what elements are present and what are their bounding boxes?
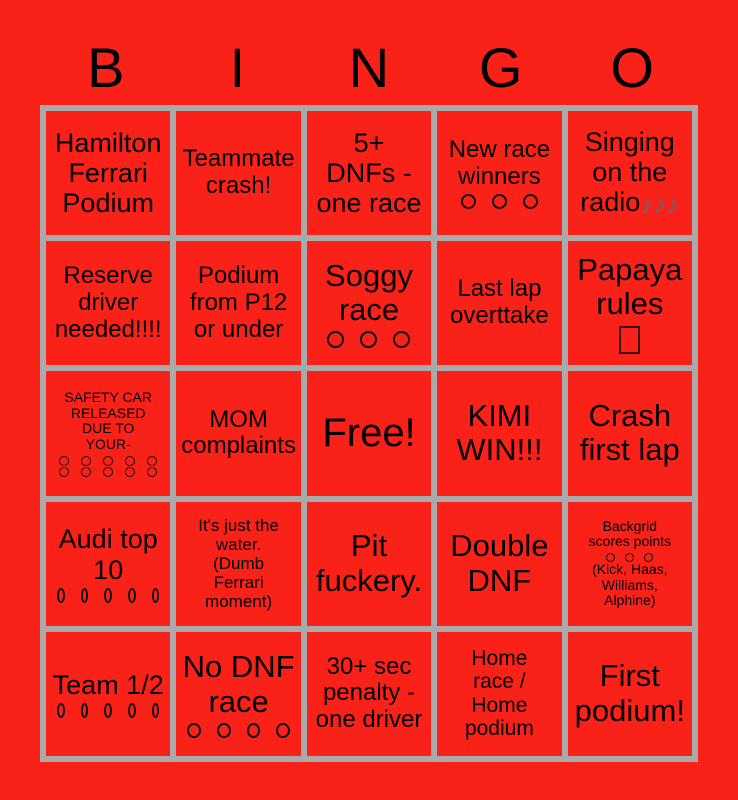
bingo-mark-circle[interactable] bbox=[147, 467, 157, 477]
bingo-cell-g4[interactable]: Double DNF bbox=[437, 502, 561, 626]
bingo-cell-label: Last lap overttake bbox=[440, 276, 558, 330]
bingo-mark-row bbox=[49, 588, 167, 603]
bingo-mark-circle[interactable] bbox=[276, 723, 290, 738]
bingo-cell-b3[interactable]: SAFETY CAR RELEASED DUE TO YOUR- bbox=[46, 371, 170, 495]
bingo-mark-circle[interactable] bbox=[128, 588, 136, 603]
bingo-cell-label: Singing on the radio ♪♪♪ bbox=[571, 127, 689, 220]
bingo-cell-label: SAFETY CAR RELEASED DUE TO YOUR- bbox=[49, 390, 167, 453]
header-letter-b: B bbox=[40, 40, 172, 96]
bingo-cell-label: Free! bbox=[310, 411, 428, 456]
bingo-mark-row bbox=[49, 456, 167, 466]
bingo-cell-n5[interactable]: 30+ sec penalty - one driver bbox=[307, 632, 431, 756]
bingo-cell-i5[interactable]: No DNF race bbox=[176, 632, 300, 756]
bingo-mark-circle[interactable] bbox=[125, 467, 135, 477]
bingo-mark-circle[interactable] bbox=[360, 331, 377, 348]
header-letter-n: N bbox=[303, 40, 435, 96]
bingo-cell-label: MOM complaints bbox=[179, 407, 297, 461]
bingo-cell-g3[interactable]: KIMI WIN!!! bbox=[437, 371, 561, 495]
bingo-cell-i3[interactable]: MOM complaints bbox=[176, 371, 300, 495]
bingo-cell-b4[interactable]: Audi top 10 bbox=[46, 502, 170, 626]
bingo-mark-circle[interactable] bbox=[327, 331, 344, 348]
bingo-mark-circle[interactable] bbox=[104, 703, 112, 718]
bingo-cell-label: Papaya rules bbox=[571, 253, 689, 322]
missing-glyph-tofu-icon bbox=[619, 326, 640, 354]
bingo-cell-label: Audi top 10 bbox=[49, 524, 167, 584]
bingo-mark-circle[interactable] bbox=[523, 194, 538, 209]
bingo-cell-label: Teammate crash! bbox=[179, 146, 297, 200]
bingo-mark-circle[interactable] bbox=[81, 703, 89, 718]
bingo-cell-n3[interactable]: Free! bbox=[307, 371, 431, 495]
bingo-header: B I N G O bbox=[40, 30, 698, 105]
bingo-cell-i1[interactable]: Teammate crash! bbox=[176, 111, 300, 235]
bingo-cell-i2[interactable]: Podium from P12 or under bbox=[176, 241, 300, 365]
bingo-grid: Hamilton Ferrari PodiumTeammate crash!5+… bbox=[40, 105, 698, 762]
bingo-mark-circle[interactable] bbox=[125, 456, 135, 466]
bingo-cell-n1[interactable]: 5+ DNFs - one race bbox=[307, 111, 431, 235]
bingo-cell-label: Crash first lap bbox=[571, 399, 689, 468]
bingo-cell-sublabel: (Kick, Haas, Williams, Alphine) bbox=[571, 562, 689, 609]
bingo-mark-circle[interactable] bbox=[103, 467, 113, 477]
bingo-mark-circle[interactable] bbox=[81, 467, 91, 477]
bingo-cell-b5[interactable]: Team 1/2 bbox=[46, 632, 170, 756]
header-letter-i: I bbox=[172, 40, 304, 96]
bingo-cell-label: Soggy race bbox=[310, 259, 428, 328]
bingo-mark-circle[interactable] bbox=[187, 723, 201, 738]
bingo-cell-label: 5+ DNFs - one race bbox=[310, 128, 428, 219]
bingo-mark-circle[interactable] bbox=[57, 588, 65, 603]
bingo-mark-row bbox=[179, 723, 297, 738]
bingo-mark-circle[interactable] bbox=[393, 331, 410, 348]
bingo-cell-label: Team 1/2 bbox=[49, 670, 167, 700]
bingo-cell-label: Home race / Home podium bbox=[440, 647, 558, 741]
bingo-cell-label: First podium! bbox=[571, 659, 689, 728]
bingo-mark-circle[interactable] bbox=[147, 456, 157, 466]
header-letter-o: O bbox=[566, 40, 698, 96]
bingo-mark-circle[interactable] bbox=[492, 194, 507, 209]
bingo-cell-b2[interactable]: Reserve driver needed!!!! bbox=[46, 241, 170, 365]
bingo-cell-i4[interactable]: It's just the water. (Dumb Ferrari momen… bbox=[176, 502, 300, 626]
music-notes-icon: ♪♪♪ bbox=[640, 190, 679, 219]
bingo-cell-label: KIMI WIN!!! bbox=[440, 399, 558, 468]
bingo-cell-g2[interactable]: Last lap overttake bbox=[437, 241, 561, 365]
bingo-mark-circle[interactable] bbox=[57, 703, 65, 718]
bingo-cell-label: New race winners bbox=[440, 137, 558, 191]
bingo-cell-label: No DNF race bbox=[179, 650, 297, 719]
bingo-mark-circle[interactable] bbox=[247, 723, 261, 738]
bingo-cell-o5[interactable]: First podium! bbox=[568, 632, 692, 756]
bingo-cell-o3[interactable]: Crash first lap bbox=[568, 371, 692, 495]
bingo-cell-label: 30+ sec penalty - one driver bbox=[310, 654, 428, 735]
bingo-mark-circle[interactable] bbox=[81, 588, 89, 603]
bingo-mark-circle[interactable] bbox=[152, 703, 160, 718]
bingo-cell-label: Pit fuckery. bbox=[310, 529, 428, 598]
bingo-mark-row bbox=[440, 194, 558, 209]
bingo-cell-b1[interactable]: Hamilton Ferrari Podium bbox=[46, 111, 170, 235]
bingo-mark-circle[interactable] bbox=[152, 588, 160, 603]
bingo-mark-row bbox=[49, 467, 167, 477]
bingo-cell-o2[interactable]: Papaya rules bbox=[568, 241, 692, 365]
bingo-cell-o1[interactable]: Singing on the radio ♪♪♪ bbox=[568, 111, 692, 235]
bingo-mark-circle[interactable] bbox=[128, 703, 136, 718]
bingo-cell-n2[interactable]: Soggy race bbox=[307, 241, 431, 365]
bingo-cell-g5[interactable]: Home race / Home podium bbox=[437, 632, 561, 756]
bingo-mark-circle[interactable] bbox=[217, 723, 231, 738]
header-letter-g: G bbox=[435, 40, 567, 96]
bingo-mark-circle[interactable] bbox=[461, 194, 476, 209]
bingo-cell-label: Hamilton Ferrari Podium bbox=[49, 128, 167, 219]
bingo-cell-label: Podium from P12 or under bbox=[179, 263, 297, 344]
bingo-cell-label: Backgrid scores points bbox=[571, 519, 689, 550]
bingo-mark-circle[interactable] bbox=[59, 467, 69, 477]
bingo-mark-circle[interactable] bbox=[103, 456, 113, 466]
bingo-cell-label: It's just the water. (Dumb Ferrari momen… bbox=[179, 516, 297, 611]
bingo-cell-n4[interactable]: Pit fuckery. bbox=[307, 502, 431, 626]
bingo-mark-circle[interactable] bbox=[81, 456, 91, 466]
bingo-cell-g1[interactable]: New race winners bbox=[437, 111, 561, 235]
bingo-mark-circle[interactable] bbox=[104, 588, 112, 603]
bingo-mark-row bbox=[49, 703, 167, 718]
bingo-cell-o4[interactable]: Backgrid scores points(Kick, Haas, Willi… bbox=[568, 502, 692, 626]
bingo-card: B I N G O Hamilton Ferrari PodiumTeammat… bbox=[0, 0, 738, 800]
bingo-cell-label: Double DNF bbox=[440, 529, 558, 598]
bingo-mark-circle[interactable] bbox=[59, 456, 69, 466]
bingo-cell-label: Reserve driver needed!!!! bbox=[49, 263, 167, 344]
bingo-mark-row bbox=[310, 331, 428, 348]
